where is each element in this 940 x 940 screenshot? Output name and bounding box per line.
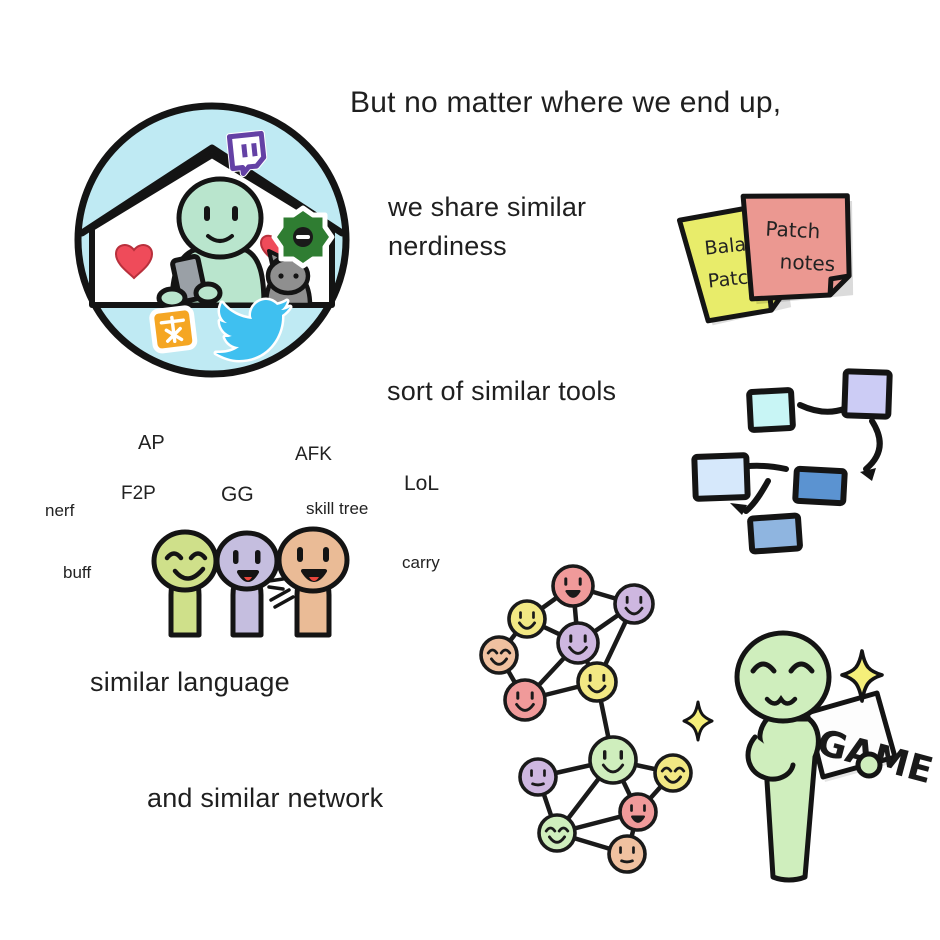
- node-yellow-left[interactable]: [509, 601, 545, 637]
- illustration-canvas: But no matter where we end up, we share …: [0, 0, 940, 940]
- term-lol: LoL: [404, 472, 439, 496]
- node-lilac-left[interactable]: [520, 759, 556, 795]
- term-f2p: F2P: [121, 483, 156, 505]
- node-pink-right[interactable]: [620, 794, 656, 830]
- person-lavender: [217, 533, 277, 635]
- square-cyan: [749, 390, 793, 430]
- person-green: [154, 532, 216, 635]
- term-buff: buff: [63, 563, 91, 583]
- pink-note-line1: Patch: [765, 216, 821, 243]
- node-green-center[interactable]: [590, 737, 636, 783]
- home-circle-illustration: [60, 100, 380, 385]
- node-pink-left[interactable]: [505, 680, 545, 720]
- pink-note-line2: notes: [779, 249, 836, 276]
- node-peach-bottom[interactable]: [609, 836, 645, 872]
- square-steel-blue: [750, 515, 800, 551]
- yellow-note-line1: Bala: [703, 234, 747, 260]
- discord-badge-icon[interactable]: [274, 208, 332, 266]
- person-peach: [279, 529, 347, 635]
- caption-network: and similar network: [147, 783, 383, 814]
- square-pale-blue: [694, 455, 747, 499]
- square-mid-blue: [795, 469, 845, 503]
- page-title: But no matter where we end up,: [350, 86, 781, 120]
- tools-flow-diagram: [660, 355, 930, 560]
- node-lilac-center[interactable]: [558, 623, 598, 663]
- term-nerf: nerf: [45, 501, 74, 521]
- node-lilac-topright[interactable]: [615, 585, 653, 623]
- speech-people-group: [145, 525, 370, 645]
- node-green-left[interactable]: [539, 815, 575, 851]
- node-yellow-mid[interactable]: [578, 663, 616, 701]
- node-yellow-right[interactable]: [655, 755, 691, 791]
- square-periwinkle: [844, 371, 890, 417]
- term-ap: AP: [138, 432, 165, 455]
- term-carry: carry: [402, 553, 440, 573]
- term-gg: GG: [221, 483, 254, 507]
- node-peach-left[interactable]: [481, 637, 517, 673]
- term-afk: AFK: [295, 444, 332, 466]
- caption-tools: sort of similar tools: [387, 376, 616, 407]
- caption-nerdiness-line2: nerdiness: [388, 227, 507, 266]
- sparkle-small: [682, 700, 714, 742]
- sticky-notes-group: Bala Patch Patch notes: [668, 190, 898, 365]
- node-pink-top[interactable]: [553, 566, 593, 606]
- network-graph: [470, 555, 710, 885]
- pink-note: Patch notes: [738, 190, 859, 309]
- kakao-icon[interactable]: [151, 307, 196, 352]
- caption-language: similar language: [90, 667, 290, 698]
- term-skill-tree: skill tree: [306, 499, 368, 519]
- caption-nerdiness-line1: we share similar: [388, 188, 586, 227]
- person-holding-game-sign: GAME: [715, 625, 940, 895]
